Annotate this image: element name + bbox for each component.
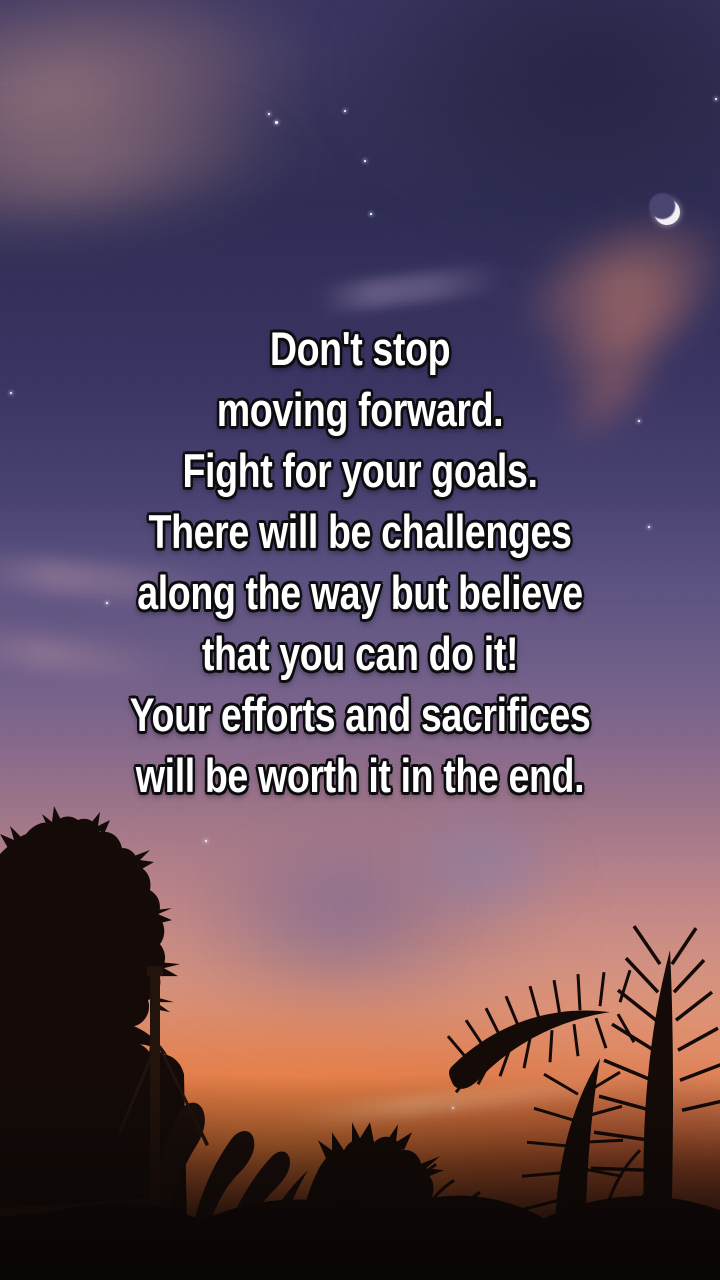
quote-line-7: Your efforts and sacrifices [86,684,633,745]
star-12 [205,840,207,842]
quote-block: Don't stop moving forward. Fight for you… [0,318,720,806]
quote-line-4: There will be challenges [86,501,633,562]
quote-poster: Don't stop moving forward. Fight for you… [0,0,720,1280]
star-5 [370,213,372,215]
quote-line-2: moving forward. [86,379,633,440]
star-2 [268,113,270,115]
quote-line-3: Fight for your goals. [86,440,633,501]
quote-line-6: that you can do it! [86,623,633,684]
star-3 [344,110,346,112]
quote-line-5: along the way but believe [86,562,633,623]
horizon-glow [0,909,720,1191]
quote-line-1: Don't stop [86,318,633,379]
star-14 [556,1015,558,1017]
star-4 [364,160,366,162]
star-6 [715,98,717,100]
quote-line-8: will be worth it in the end. [86,745,633,806]
